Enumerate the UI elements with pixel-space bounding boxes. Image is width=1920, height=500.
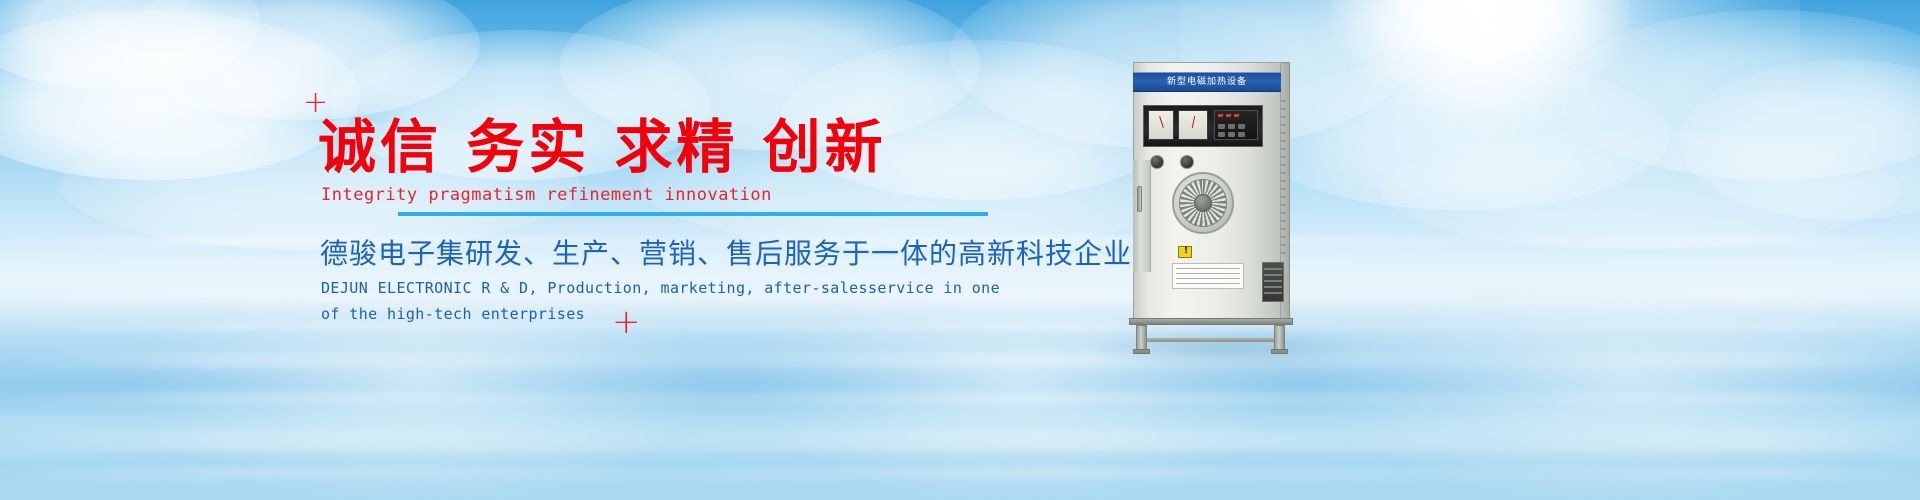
cloud-puff	[1380, 130, 1900, 250]
subtitle-english: DEJUN ELECTRONIC R & D, Production, mark…	[321, 275, 1000, 328]
side-vent-fin	[1264, 292, 1282, 294]
control-knob[interactable]	[1180, 155, 1194, 169]
cabinet-foot	[1133, 349, 1150, 354]
status-led	[1218, 114, 1223, 117]
keypad-key[interactable]	[1228, 132, 1235, 137]
divider-line	[398, 212, 988, 216]
sea-surface	[0, 300, 1920, 500]
spec-label	[1172, 263, 1244, 289]
subtitle-english-line-2: of the high-tech enterprises	[321, 301, 1000, 327]
hero-banner: + + 诚信 务实 求精 创新 Integrity pragmatism ref…	[0, 0, 1920, 500]
sun-core	[1330, 0, 1630, 110]
spec-label-line	[1176, 278, 1240, 279]
subtitle-chinese: 德骏电子集研发、生产、营销、售后服务于一体的高新科技企业	[320, 236, 1132, 271]
product-nameplate-text: 新型电磁加热设备	[1137, 74, 1277, 87]
side-vent-fin	[1264, 268, 1282, 270]
sea-glint	[1320, 300, 1920, 500]
keypad-key[interactable]	[1238, 132, 1245, 137]
warning-label-icon	[1178, 246, 1192, 258]
horizon-streak	[0, 430, 1920, 450]
cabinet-door-strip	[1133, 160, 1151, 272]
status-led	[1226, 114, 1231, 117]
door-handle[interactable]	[1137, 186, 1142, 212]
keypad-key[interactable]	[1218, 124, 1225, 129]
control-knob[interactable]	[1150, 155, 1164, 169]
cloud-puff	[1250, 60, 1670, 210]
keypad-key[interactable]	[1218, 132, 1225, 137]
subtitle-english-line-1: DEJUN ELECTRONIC R & D, Production, mark…	[321, 275, 1000, 301]
headline-english: Integrity pragmatism refinement innovati…	[321, 185, 772, 205]
horizon-streak	[0, 392, 1920, 404]
headline-chinese: 诚信 务实 求精 创新	[318, 118, 887, 176]
status-led	[1234, 114, 1239, 117]
cabinet-leg	[1274, 325, 1285, 351]
side-vent-fin	[1264, 286, 1282, 288]
cooling-fan-hub	[1194, 194, 1212, 212]
horizon-streak	[0, 352, 1920, 368]
cloud-puff	[120, 0, 480, 120]
keypad-key[interactable]	[1238, 124, 1245, 129]
spec-label-line	[1176, 268, 1240, 269]
spec-label-line	[1176, 283, 1240, 284]
cabinet-leg	[1136, 325, 1147, 351]
cloud-puff	[0, 0, 260, 90]
cloud-puff	[1680, 60, 1920, 220]
side-vent-fin	[1264, 274, 1282, 276]
cabinet-base-rail	[1129, 318, 1293, 325]
cabinet-cross-bar	[1146, 338, 1276, 342]
cloud-puff	[1560, 10, 1920, 180]
keypad-key[interactable]	[1228, 124, 1235, 129]
horizon-streak	[0, 466, 1920, 480]
cabinet-foot	[1271, 349, 1288, 354]
spec-label-line	[1176, 273, 1240, 274]
side-vent-fin	[1264, 280, 1282, 282]
